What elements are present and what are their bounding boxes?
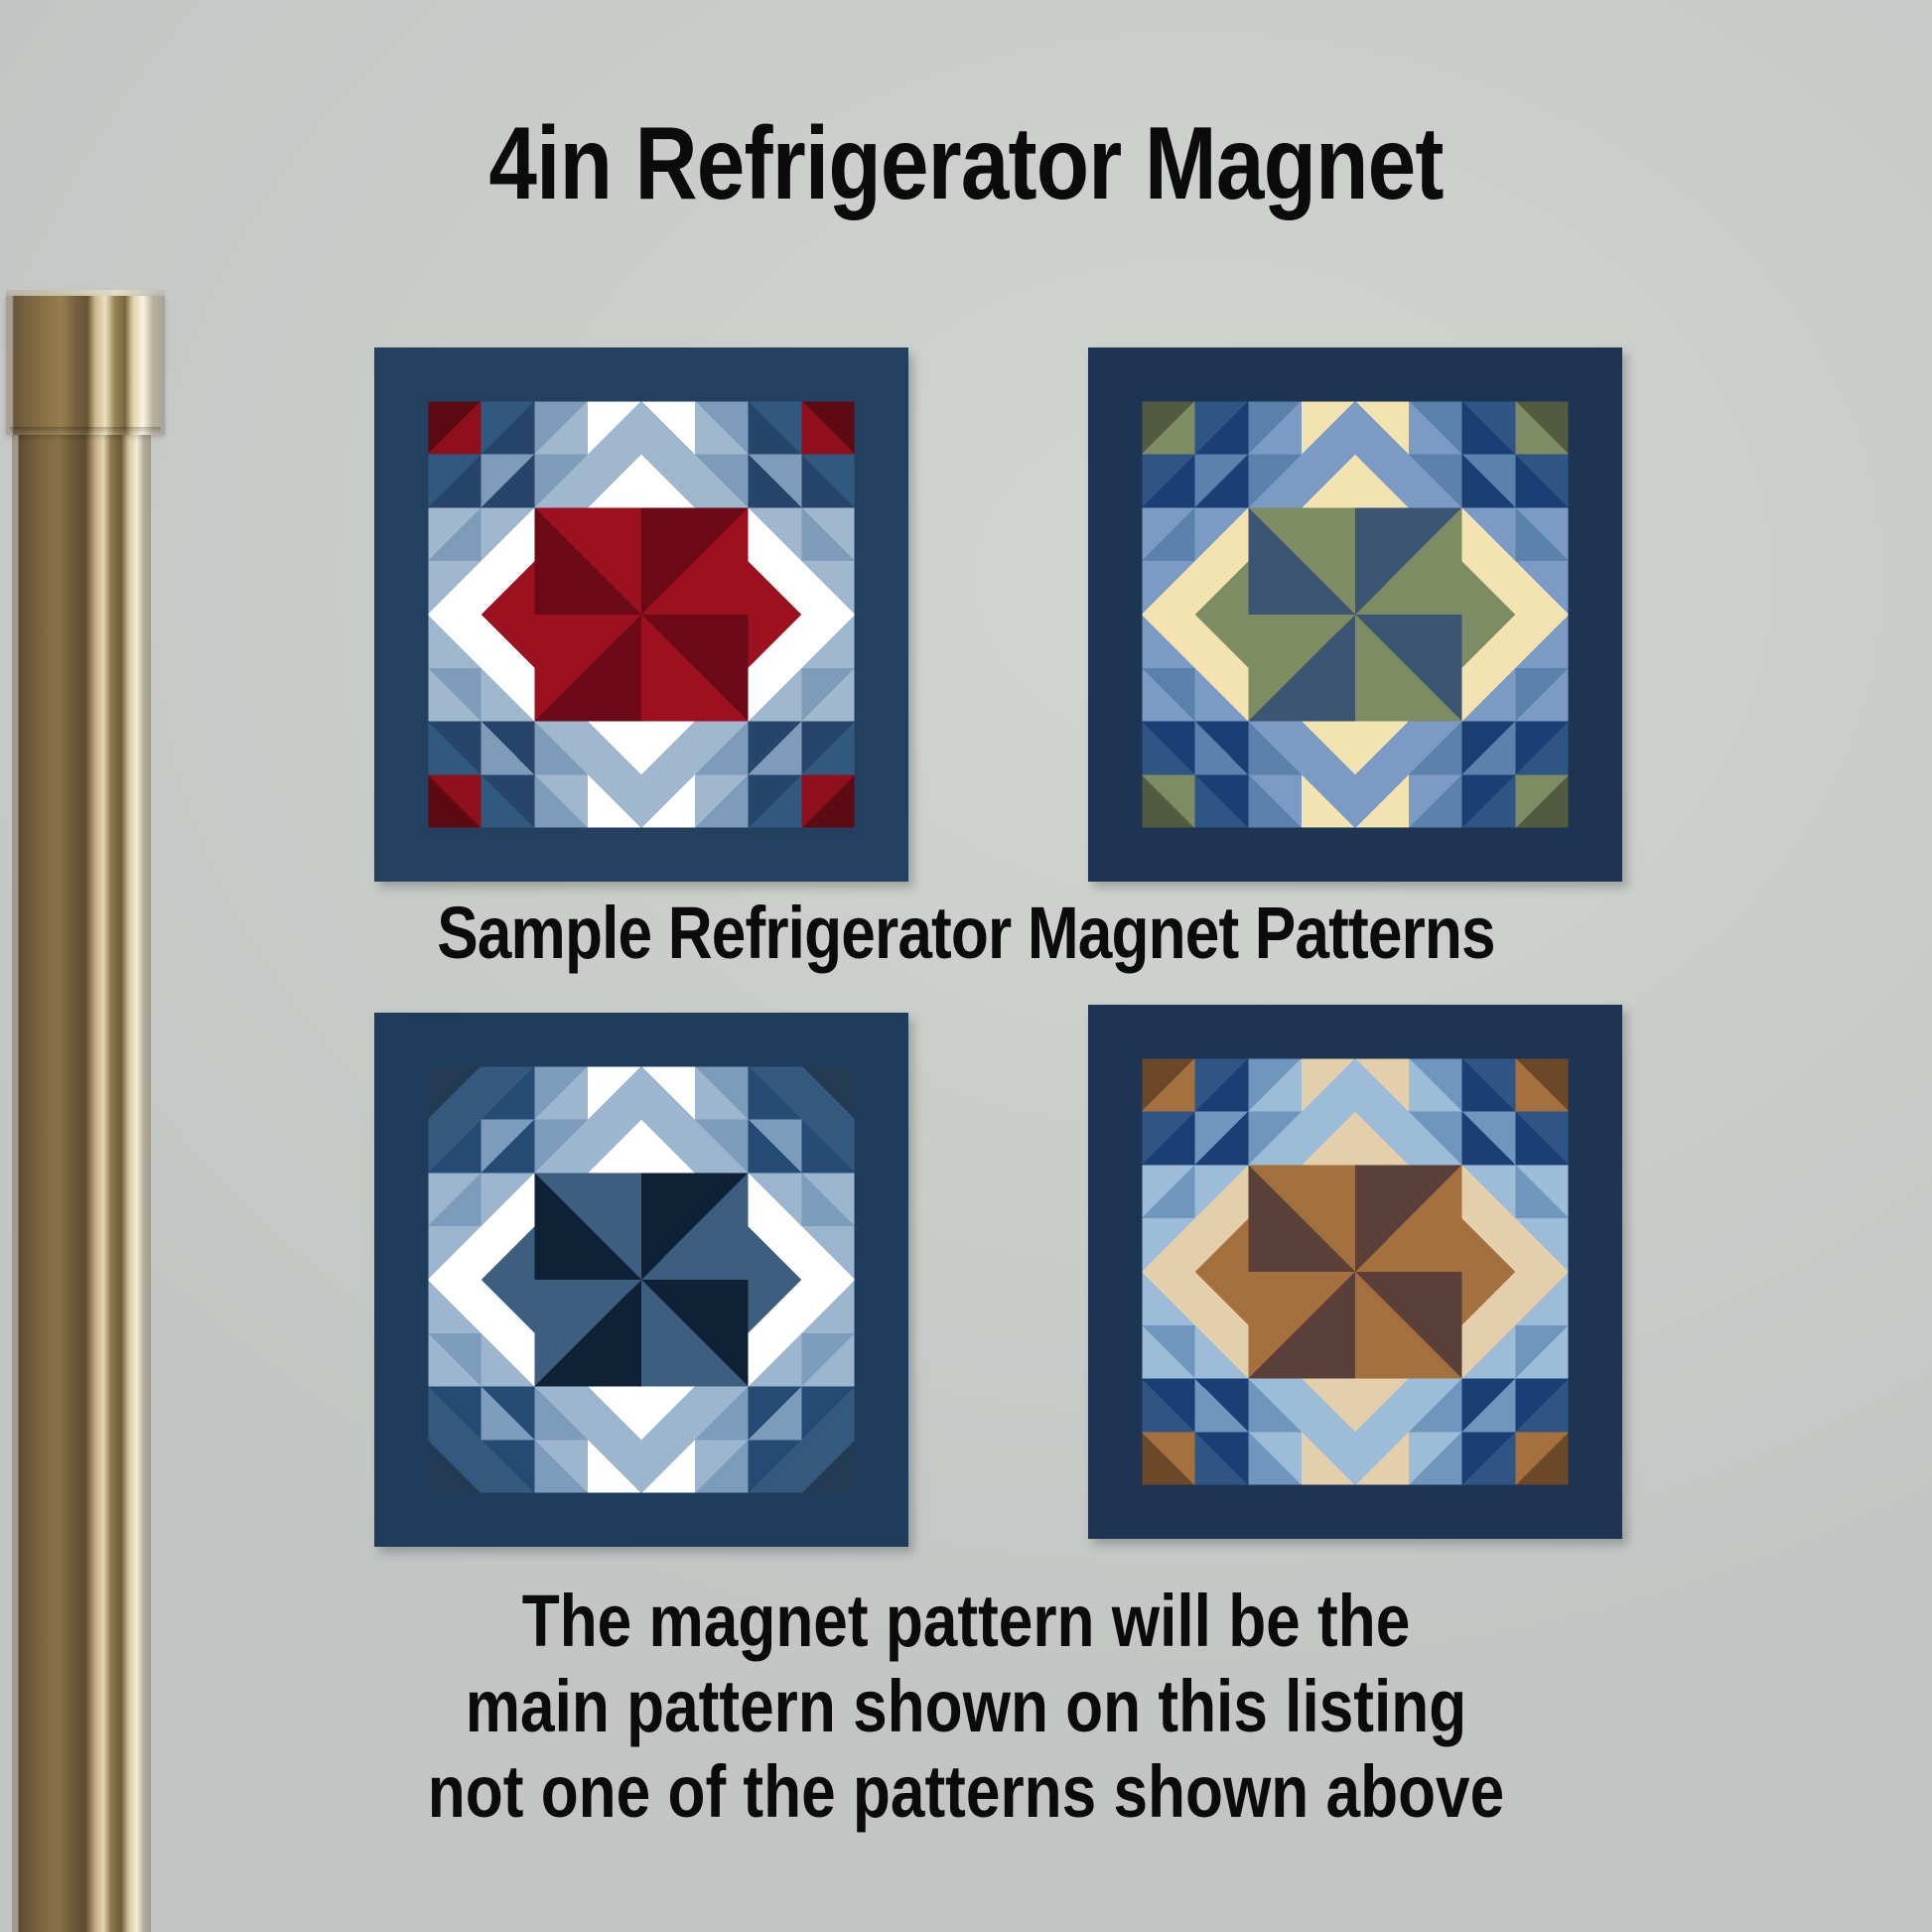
blue-monochrome-star-quilt-block xyxy=(371,1013,911,1547)
quilt-pattern-sample-3 xyxy=(371,1013,911,1547)
disclaimer-line-1: The magnet pattern will be the xyxy=(155,1579,1778,1664)
handle-cap-seam xyxy=(10,427,161,435)
disclaimer-line-2: main pattern shown on this listing xyxy=(155,1664,1778,1749)
quilt-pattern-sample-2 xyxy=(1085,347,1625,882)
disclaimer-note: The magnet pattern will be the main patt… xyxy=(155,1579,1778,1835)
handle-cap xyxy=(6,296,165,435)
quilt-pattern-sample-4 xyxy=(1085,1005,1625,1539)
red-white-blue-star-quilt-block xyxy=(371,347,911,882)
product-image-canvas: 4in Refrigerator Magnet Sample Refrigera… xyxy=(0,0,1932,1932)
page-title: 4in Refrigerator Magnet xyxy=(155,109,1778,218)
blue-tan-brown-star-quilt-block xyxy=(1085,1005,1625,1539)
quilt-pattern-sample-1 xyxy=(371,347,911,882)
cream-sage-blue-star-quilt-block xyxy=(1085,347,1625,882)
samples-caption: Sample Refrigerator Magnet Patterns xyxy=(155,894,1778,973)
handle-shaft xyxy=(12,298,151,1932)
disclaimer-line-3: not one of the patterns shown above xyxy=(155,1749,1778,1835)
